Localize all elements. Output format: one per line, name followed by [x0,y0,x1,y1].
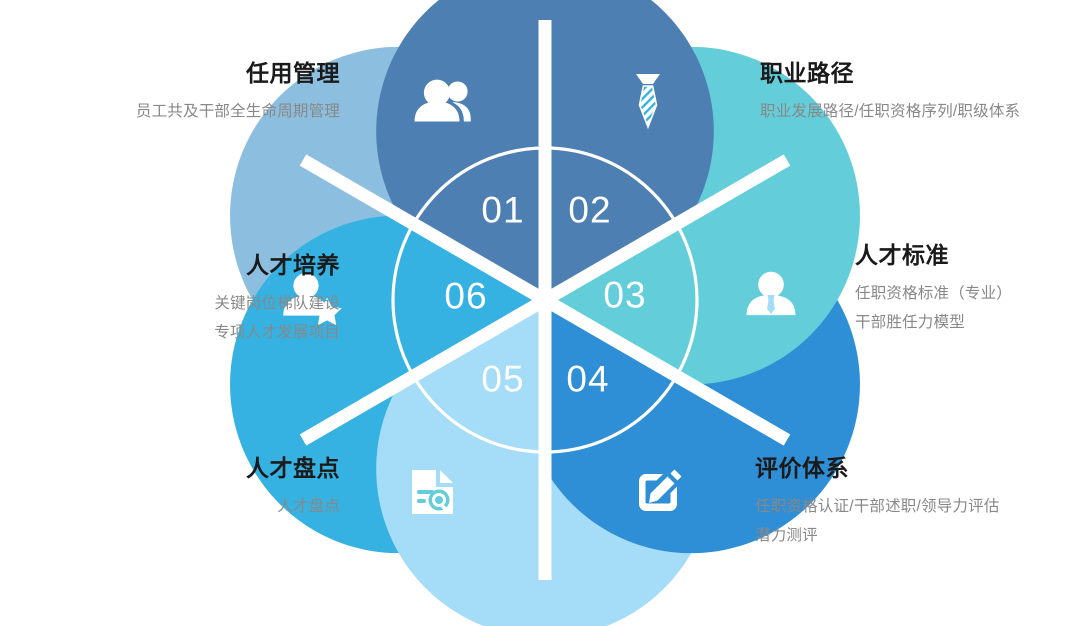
label-title-02: 职业路径 [760,58,1081,89]
label-desc-04-line-2: 潜力测评 [755,522,1081,551]
label-title-04: 评价体系 [755,453,1081,484]
label-desc-06-line-1: 关键岗位梯队建设 [10,290,340,319]
label-title-05: 人才盘点 [10,453,340,484]
petal-number-01: 01 [481,190,524,231]
label-title-01: 任用管理 [10,58,340,89]
petal-number-05: 05 [481,359,524,400]
label-desc-03-line-2: 干部胜任力模型 [855,309,1081,338]
label-desc-05-line-1: 人才盘点 [10,493,340,522]
label-block-05: 人才盘点 人才盘点 [10,453,340,522]
petal-number-04: 04 [566,359,609,400]
label-desc-04-line-1: 任职资格认证/干部述职/领导力评估 [755,493,1081,522]
edit-square-icon [639,470,682,512]
label-title-06: 人才培养 [10,250,340,281]
label-desc-03-line-1: 任职资格标准（专业） [855,280,1081,309]
petal-number-02: 02 [568,190,611,231]
petal-number-03: 03 [603,275,646,316]
label-block-02: 职业路径 职业发展路径/任职资格序列/职级体系 [760,58,1081,127]
label-title-03: 人才标准 [855,240,1081,271]
label-block-03: 人才标准 任职资格标准（专业） 干部胜任力模型 [855,240,1081,337]
label-desc-01-line-1: 员工共及干部全生命周期管理 [10,98,340,127]
label-desc-02-line-1: 职业发展路径/任职资格序列/职级体系 [760,98,1081,127]
label-block-01: 任用管理 员工共及干部全生命周期管理 [10,58,340,127]
label-block-04: 评价体系 任职资格认证/干部述职/领导力评估 潜力测评 [755,453,1081,550]
label-desc-06-line-2: 专项人才发展项目 [10,319,340,348]
petal-number-06: 06 [444,276,487,317]
label-block-06: 人才培养 关键岗位梯队建设 专项人才发展项目 [10,250,340,347]
